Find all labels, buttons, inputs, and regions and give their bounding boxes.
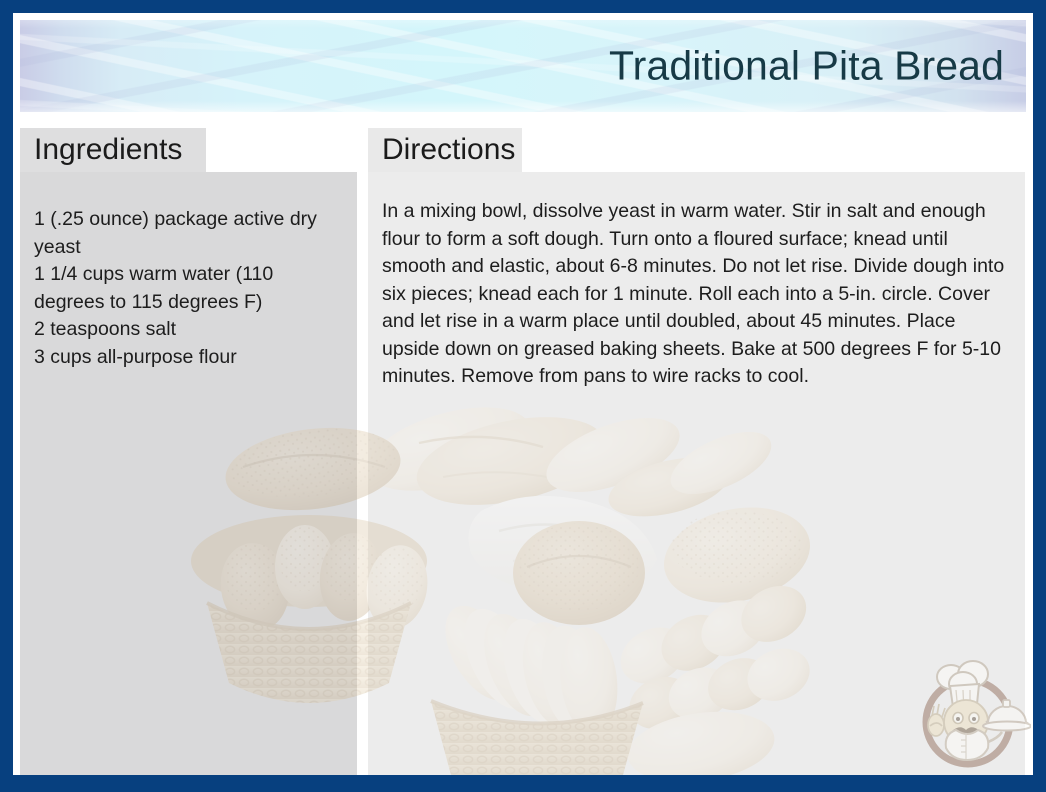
ingredients-heading-label: Ingredients bbox=[34, 135, 182, 165]
ingredients-heading-panel: Ingredients bbox=[20, 128, 206, 172]
ingredients-panel: 1 (.25 ounce) package active dry yeast 1… bbox=[20, 172, 357, 775]
slide-content-area: Traditional Pita Bread Ingredients 1 (.2… bbox=[13, 13, 1033, 775]
directions-body-text: In a mixing bowl, dissolve yeast in warm… bbox=[382, 198, 1016, 391]
directions-heading-panel: Directions bbox=[368, 128, 522, 172]
list-item: 3 cups all-purpose flour bbox=[34, 344, 346, 372]
directions-heading-label: Directions bbox=[382, 135, 515, 165]
list-item: 1 1/4 cups warm water (110 degrees to 11… bbox=[34, 261, 346, 316]
ingredients-list: 1 (.25 ounce) package active dry yeast 1… bbox=[34, 206, 346, 371]
page-title: Traditional Pita Bread bbox=[609, 46, 1004, 87]
list-item: 2 teaspoons salt bbox=[34, 316, 346, 344]
list-item: 1 (.25 ounce) package active dry yeast bbox=[34, 206, 346, 261]
recipe-slide: Traditional Pita Bread Ingredients 1 (.2… bbox=[0, 0, 1046, 792]
header-banner: Traditional Pita Bread bbox=[20, 20, 1026, 112]
directions-panel: In a mixing bowl, dissolve yeast in warm… bbox=[368, 172, 1025, 775]
